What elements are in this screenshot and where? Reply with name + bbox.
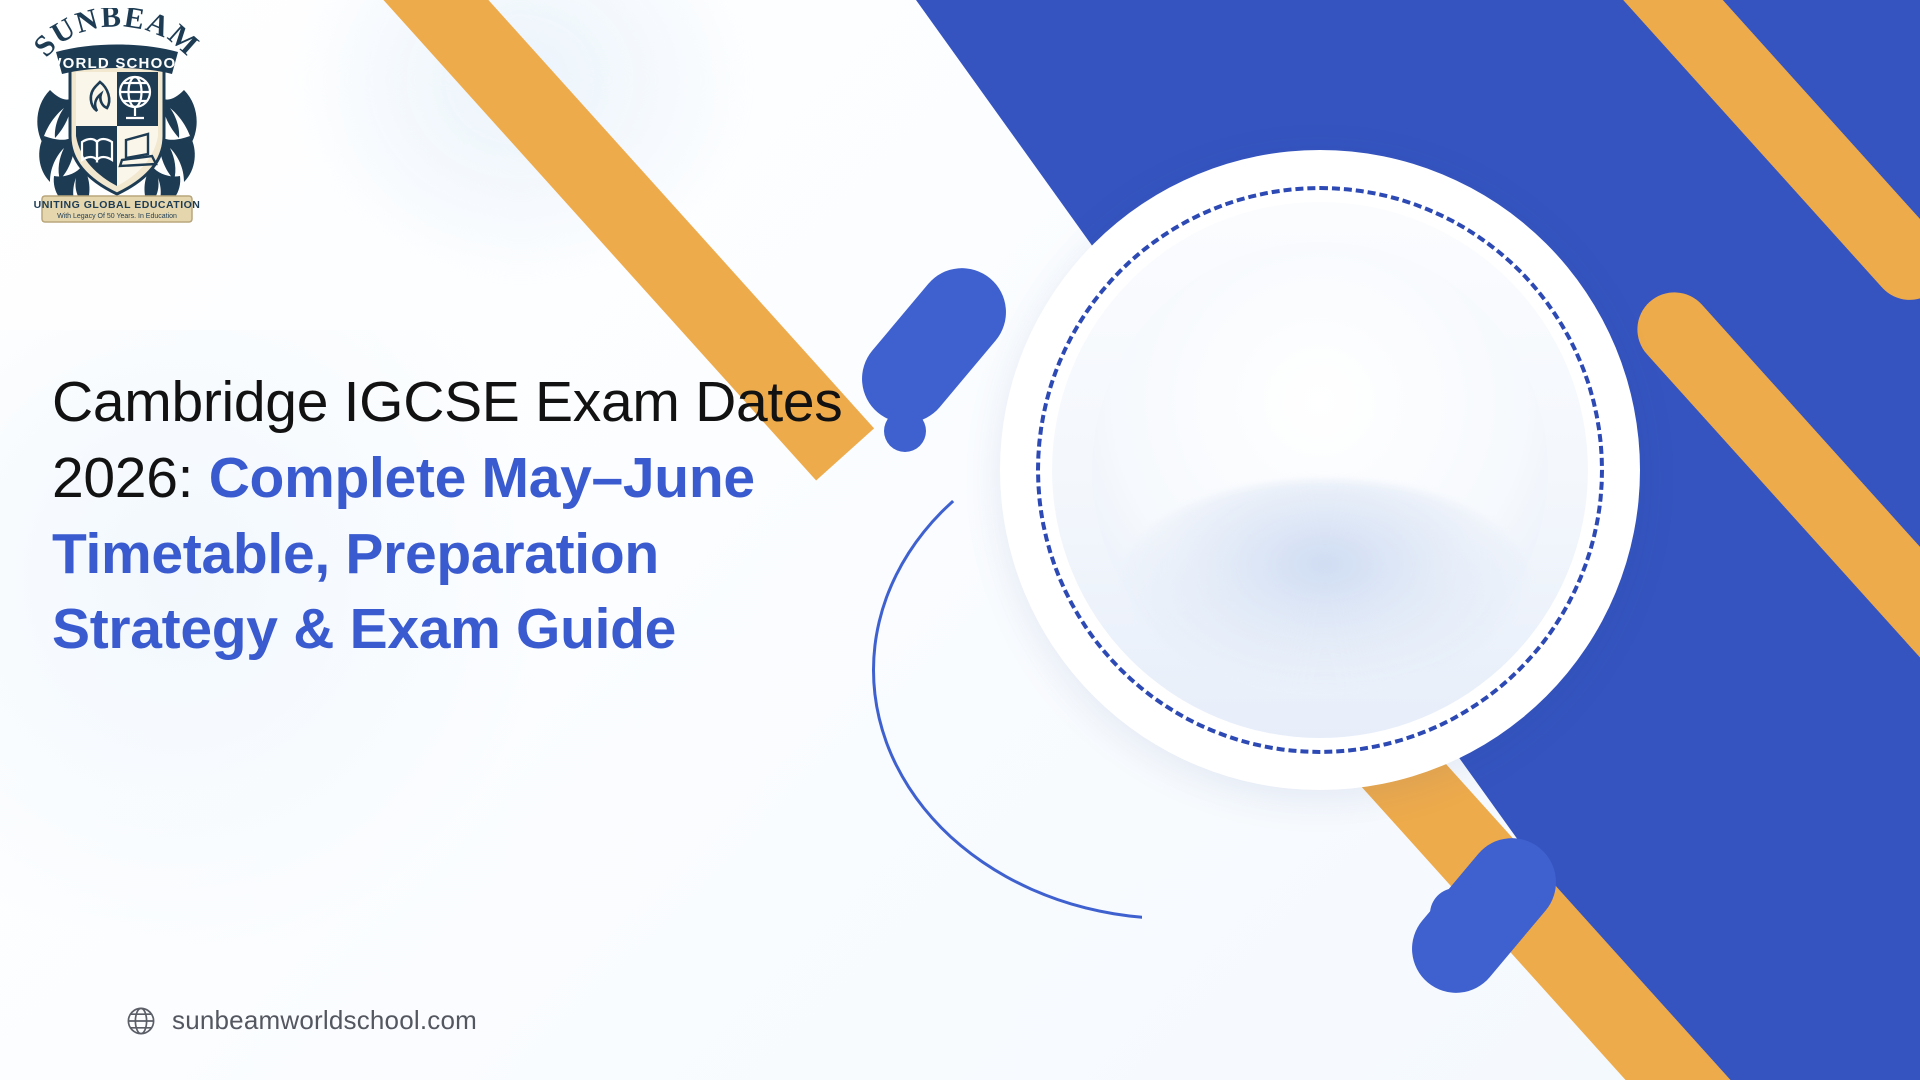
logo-banner-sub: With Legacy Of 50 Years. In Education	[57, 213, 177, 220]
decorative-dot-top-left	[884, 410, 926, 452]
footer-website[interactable]: sunbeamworldschool.com	[126, 1005, 477, 1036]
school-logo: WORLD SCHOOL SUNBEAM UNITING GLOBAL EDUC…	[22, 8, 212, 226]
page-title: Cambridge IGCSE Exam Dates 2026: Complet…	[52, 365, 882, 668]
website-url: sunbeamworldschool.com	[172, 1005, 477, 1036]
decorative-dot-bottom-right	[1430, 888, 1482, 940]
poster-canvas: 2026 23673	[0, 0, 1920, 1080]
logo-banner-main: UNITING GLOBAL EDUCATION	[34, 199, 201, 211]
illustration-cloud-shadow	[1120, 480, 1530, 690]
calendar-illustration: 2026 23673	[1000, 150, 1640, 790]
globe-icon	[126, 1006, 156, 1036]
logo-subtitle: WORLD SCHOOL	[47, 55, 186, 72]
